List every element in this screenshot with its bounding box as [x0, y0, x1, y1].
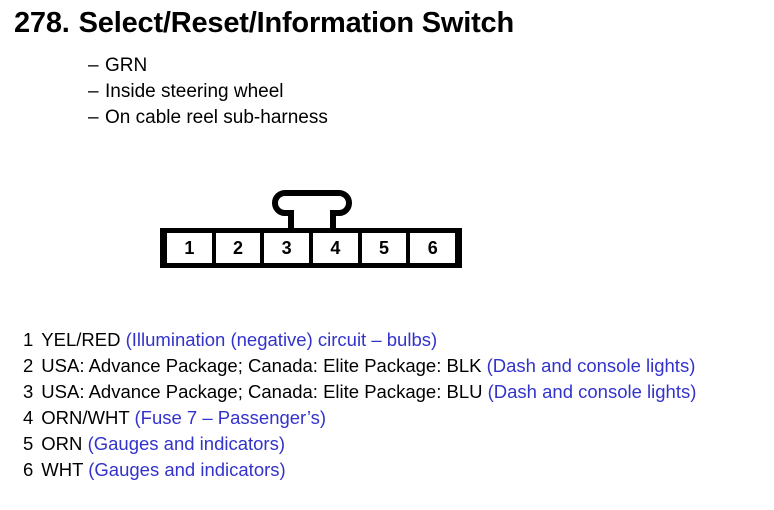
pin-legend-number: 5: [23, 431, 33, 457]
connector-diagram: 1 2 3 4 5 6: [160, 190, 464, 270]
note-item-label: Inside steering wheel: [105, 81, 284, 102]
note-dash: –: [88, 105, 105, 131]
pin-legend-row: 4ORN/WHT (Fuse 7 – Passenger’s): [23, 405, 696, 431]
pin-legend-description: (Illumination (negative) circuit – bulbs…: [126, 329, 438, 350]
pin-legend-number: 2: [23, 353, 33, 379]
note-item-label: On cable reel sub-harness: [105, 107, 328, 128]
notes-list: –GRN –Inside steering wheel –On cable re…: [88, 53, 328, 131]
pin-legend-row: 3USA: Advance Package; Canada: Elite Pac…: [23, 379, 696, 405]
note-dash: –: [88, 79, 105, 105]
pin-legend-wire: USA: Advance Package; Canada: Elite Pack…: [41, 355, 481, 376]
pin-legend-number: 3: [23, 379, 33, 405]
note-item-label: GRN: [105, 55, 147, 76]
page-title-number: 278.: [14, 7, 70, 39]
note-item: –GRN: [88, 53, 328, 79]
pin-legend-description: (Gauges and indicators): [88, 433, 285, 454]
latch-inner-fill: [294, 204, 330, 218]
pin-legend-row: 5ORN (Gauges and indicators): [23, 431, 696, 457]
connector-pin-3: 3: [264, 233, 309, 263]
connector-pin-4: 4: [313, 233, 358, 263]
pin-legend-wire: YEL/RED: [41, 329, 120, 350]
pin-legend-row: 6WHT (Gauges and indicators): [23, 457, 696, 483]
pin-legend-number: 4: [23, 405, 33, 431]
pin-legend-wire: ORN/WHT: [41, 407, 129, 428]
pin-legend-description: (Dash and console lights): [488, 381, 697, 402]
connector-pin-1: 1: [167, 233, 212, 263]
pin-legend-row: 2USA: Advance Package; Canada: Elite Pac…: [23, 353, 696, 379]
page-title-text: Select/Reset/Information Switch: [79, 7, 514, 39]
connector-pin-2: 2: [216, 233, 261, 263]
pin-legend-description: (Fuse 7 – Passenger’s): [134, 407, 326, 428]
pin-legend-wire: ORN: [41, 433, 82, 454]
note-item: –Inside steering wheel: [88, 79, 328, 105]
pin-legend-row: 1YEL/RED (Illumination (negative) circui…: [23, 327, 696, 353]
pin-legend-description: (Gauges and indicators): [88, 459, 285, 480]
connector-pin-6: 6: [410, 233, 455, 263]
pin-legend-list: 1YEL/RED (Illumination (negative) circui…: [23, 327, 696, 483]
pin-legend-description: (Dash and console lights): [487, 355, 696, 376]
note-dash: –: [88, 53, 105, 79]
connector-latch-icon: [272, 190, 352, 232]
pin-legend-number: 1: [23, 327, 33, 353]
pin-legend-number: 6: [23, 457, 33, 483]
pin-legend-wire: WHT: [41, 459, 83, 480]
page-title: 278.Select/Reset/Information Switch: [14, 6, 514, 40]
note-item: –On cable reel sub-harness: [88, 105, 328, 131]
pin-legend-wire: USA: Advance Package; Canada: Elite Pack…: [41, 381, 482, 402]
connector-body: 1 2 3 4 5 6: [160, 228, 462, 268]
connector-pin-5: 5: [362, 233, 407, 263]
